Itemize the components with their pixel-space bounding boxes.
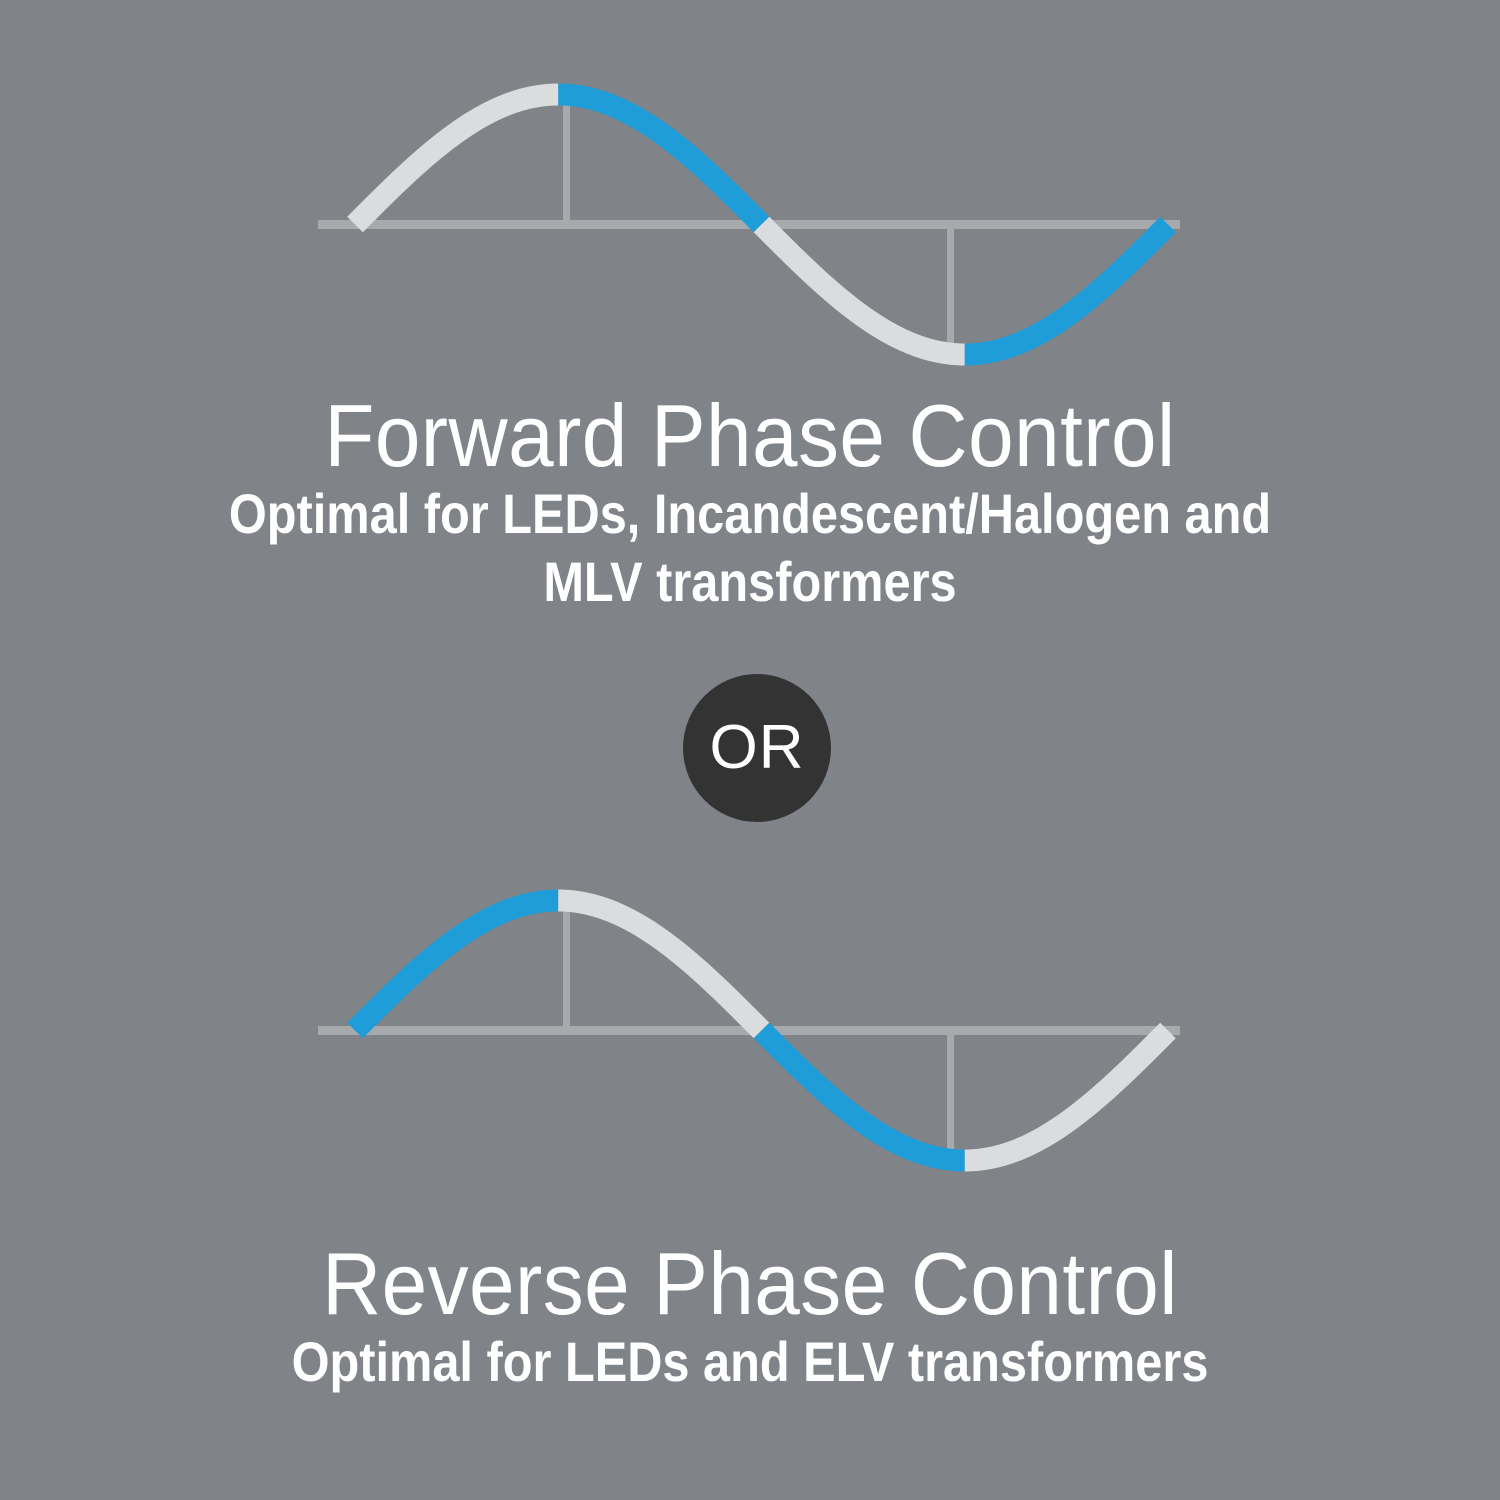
- forward-subtitle: Optimal for LEDs, Incandescent/Halogen a…: [98, 480, 1403, 617]
- wave-segment-off-1: [558, 890, 769, 1039]
- forward-text-block: Forward Phase Control Optimal for LEDs, …: [0, 392, 1500, 617]
- reverse-text-block: Reverse Phase Control Optimal for LEDs a…: [0, 1240, 1500, 1396]
- reverse-subtitle: Optimal for LEDs and ELV transformers: [98, 1328, 1403, 1396]
- reverse-tick-270deg: [947, 1031, 954, 1162]
- wave-segment-on-0: [347, 890, 558, 1039]
- reverse-waveform-svg: [0, 866, 1500, 1186]
- reverse-title: Reverse Phase Control: [53, 1240, 1448, 1328]
- reverse-waveform-figure: [0, 866, 1500, 1186]
- diagram-canvas: Forward Phase Control Optimal for LEDs, …: [0, 0, 1500, 1500]
- or-divider-badge: OR: [683, 674, 831, 822]
- forward-tick-270deg: [947, 225, 954, 356]
- wave-segment-off-0: [347, 84, 558, 233]
- forward-waveform-figure: [0, 60, 1500, 380]
- wave-segment-on-2: [754, 1023, 965, 1172]
- wave-segment-on-1: [558, 84, 769, 233]
- or-label: OR: [710, 717, 805, 779]
- reverse-tick-90deg: [563, 900, 570, 1033]
- forward-waveform-svg: [0, 60, 1500, 380]
- wave-segment-off-2: [754, 217, 965, 366]
- forward-tick-90deg: [563, 94, 570, 227]
- wave-segment-on-3: [965, 217, 1176, 366]
- forward-title: Forward Phase Control: [53, 392, 1448, 480]
- wave-segment-off-3: [965, 1023, 1176, 1172]
